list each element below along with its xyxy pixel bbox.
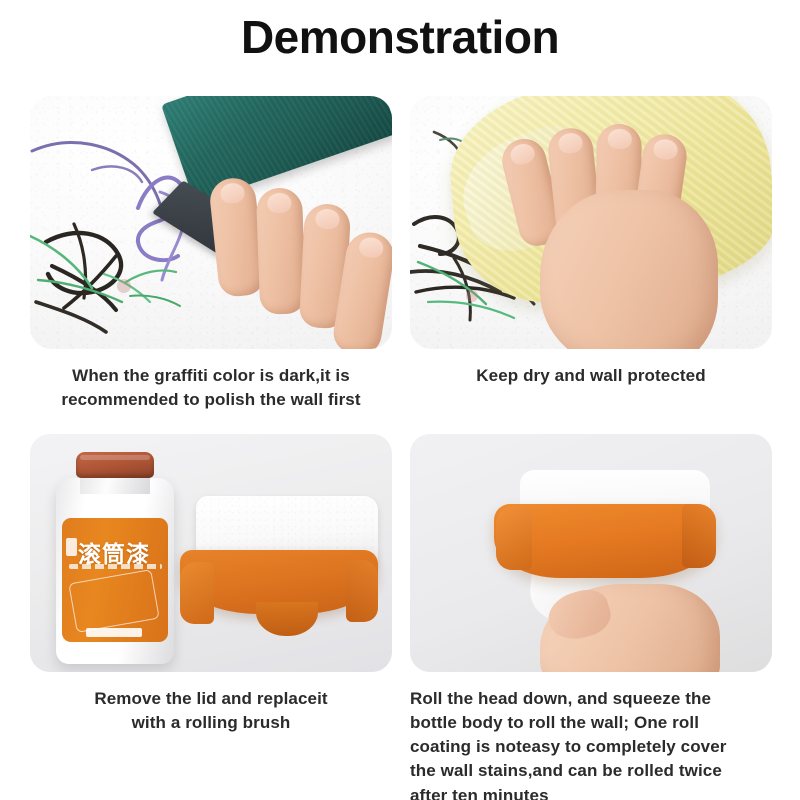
caption-line: When the graffiti color is dark,it is bbox=[30, 364, 392, 388]
hand-squeezing-bottle bbox=[540, 584, 720, 672]
roller-brush-head bbox=[180, 496, 378, 646]
roller-stem bbox=[256, 602, 318, 636]
fingernail bbox=[315, 208, 340, 229]
bottle-cap bbox=[76, 452, 154, 478]
caption-line: after ten minutes bbox=[410, 784, 772, 800]
label-subtext-bar bbox=[69, 564, 162, 569]
step-1-photo: DETAOU bbox=[30, 96, 392, 349]
step-2-caption: Keep dry and wall protected bbox=[410, 364, 772, 388]
step-2-photo bbox=[410, 96, 772, 349]
page-title: Demonstration bbox=[0, 12, 800, 64]
roller-arm-right bbox=[346, 560, 378, 622]
caption-line: Keep dry and wall protected bbox=[410, 364, 772, 388]
step-card-3: 滚筒漆 bbox=[30, 434, 392, 735]
demonstration-page: Demonstration bbox=[0, 0, 800, 800]
step-4-caption: Roll the head down, and squeeze the bott… bbox=[410, 687, 772, 800]
caption-line: bottle body to roll the wall; One roll bbox=[410, 711, 772, 735]
caption-line: coating is noteasy to completely cover bbox=[410, 735, 772, 759]
fingernail bbox=[607, 129, 631, 149]
label-weight-bar bbox=[86, 628, 142, 637]
hand-holding-block bbox=[208, 174, 392, 349]
roller-arm-left bbox=[496, 506, 532, 570]
step-4-photo bbox=[410, 434, 772, 672]
fingernail bbox=[509, 142, 537, 167]
fingernail bbox=[652, 138, 679, 161]
roller-arm-right bbox=[682, 504, 716, 568]
paint-bottle: 滚筒漆 bbox=[56, 452, 174, 664]
caption-line: Remove the lid and replaceit bbox=[30, 687, 392, 711]
caption-line: with a rolling brush bbox=[30, 711, 392, 735]
fingernail bbox=[358, 236, 385, 260]
label-badge bbox=[66, 538, 77, 556]
roller-frame bbox=[494, 504, 716, 578]
step-card-1: DETAOU bbox=[30, 96, 392, 412]
step-card-2: Keep dry and wall protected bbox=[410, 96, 772, 388]
label-illustration bbox=[68, 569, 159, 633]
fingernail bbox=[219, 182, 245, 204]
step-1-caption: When the graffiti color is dark,it is re… bbox=[30, 364, 392, 412]
caption-line: recommended to polish the wall first bbox=[30, 388, 392, 412]
palm bbox=[540, 190, 718, 349]
hand-wiping bbox=[506, 132, 756, 349]
fingernail bbox=[267, 193, 292, 214]
roller-arm-left bbox=[180, 562, 214, 624]
fingernail bbox=[557, 132, 583, 154]
step-3-caption: Remove the lid and replaceit with a roll… bbox=[30, 687, 392, 735]
caption-line: Roll the head down, and squeeze the bbox=[410, 687, 772, 711]
bottle-label: 滚筒漆 bbox=[62, 518, 168, 642]
roller-applicator bbox=[494, 470, 716, 602]
caption-line: the wall stains,and can be rolled twice bbox=[410, 759, 772, 783]
step-card-4: Roll the head down, and squeeze the bott… bbox=[410, 434, 772, 800]
step-3-photo: 滚筒漆 bbox=[30, 434, 392, 672]
